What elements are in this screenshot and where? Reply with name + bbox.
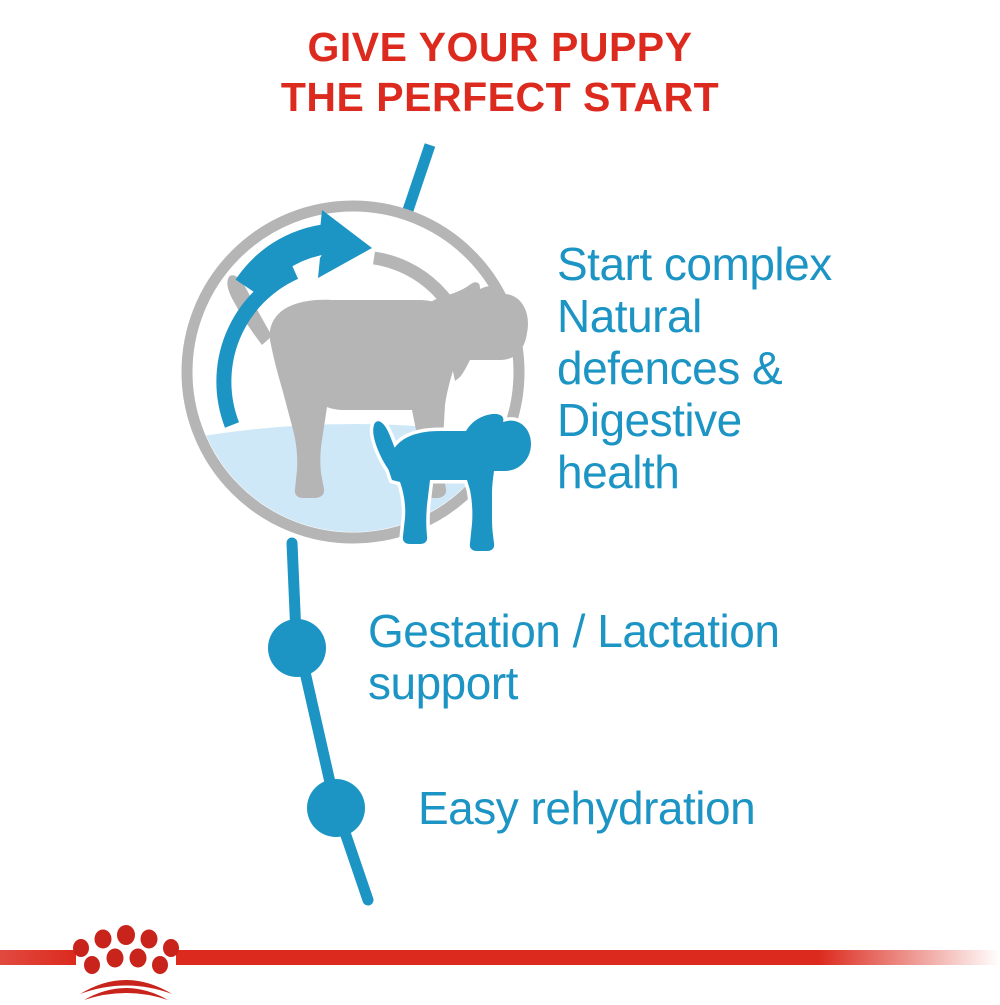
puppy-silhouette xyxy=(373,414,531,551)
adult-dog-and-puppy-circle-icon xyxy=(180,206,531,551)
feature-2-line-1: Gestation / Lactation xyxy=(368,605,968,657)
feature-label-2: Gestation / Lactation support xyxy=(368,605,968,709)
feature-1-line-4: Digestive xyxy=(557,394,957,446)
feature-1-line-1: Start complex xyxy=(557,238,957,290)
infographic-canvas: GIVE YOUR PUPPY THE PERFECT START xyxy=(0,0,1000,1000)
illustration-layer xyxy=(0,0,1000,1000)
ground-arc xyxy=(180,424,528,545)
footer-bar-right xyxy=(176,950,1000,965)
connector-line xyxy=(268,145,430,900)
puppy-outline xyxy=(373,414,531,551)
footer xyxy=(0,920,1000,1000)
page-title: GIVE YOUR PUPPY THE PERFECT START xyxy=(0,22,1000,122)
connector-node-2 xyxy=(307,779,365,837)
connector-node-1 xyxy=(268,619,326,677)
headline-line-2: THE PERFECT START xyxy=(0,72,1000,122)
headline-line-1: GIVE YOUR PUPPY xyxy=(0,22,1000,72)
feature-label-1: Start complex Natural defences & Digesti… xyxy=(557,238,957,498)
cycle-arc-gray xyxy=(374,258,468,350)
puppy-fill xyxy=(373,414,531,551)
feature-3-line-1: Easy rehydration xyxy=(418,782,978,834)
feature-1-line-3: defences & xyxy=(557,342,957,394)
feature-2-line-2: support xyxy=(368,657,968,709)
growth-cycle-arrow-icon xyxy=(224,210,372,425)
feature-1-line-2: Natural xyxy=(557,290,957,342)
feature-1-line-5: health xyxy=(557,446,957,498)
feature-label-3: Easy rehydration xyxy=(418,782,978,834)
royal-canin-crown-icon xyxy=(73,925,179,1000)
footer-bar-and-logo xyxy=(0,920,1000,1000)
footer-bar-left xyxy=(0,950,76,965)
adult-dog-silhouette xyxy=(227,275,528,498)
